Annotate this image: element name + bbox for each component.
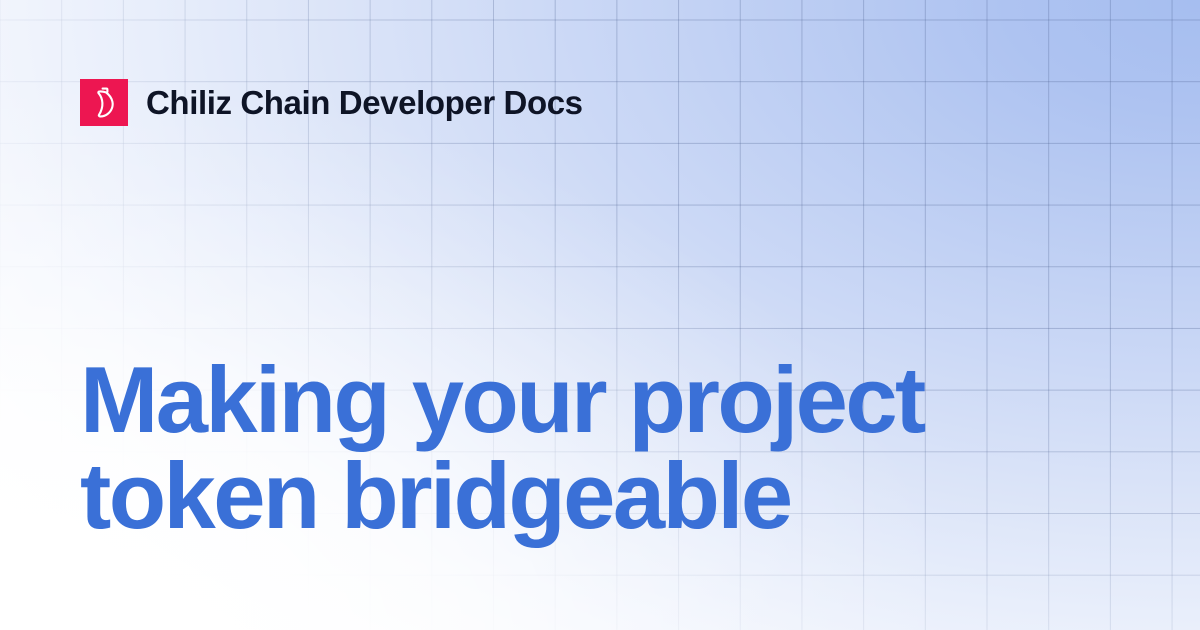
chili-pepper-icon bbox=[91, 87, 117, 118]
brand-title: Chiliz Chain Developer Docs bbox=[146, 86, 583, 119]
chiliz-logo-mark bbox=[80, 79, 128, 126]
page-title: Making your project token bridgeable bbox=[80, 352, 1090, 544]
brand-lockup: Chiliz Chain Developer Docs bbox=[80, 79, 583, 126]
social-share-card: Chiliz Chain Developer Docs Making your … bbox=[0, 0, 1200, 630]
